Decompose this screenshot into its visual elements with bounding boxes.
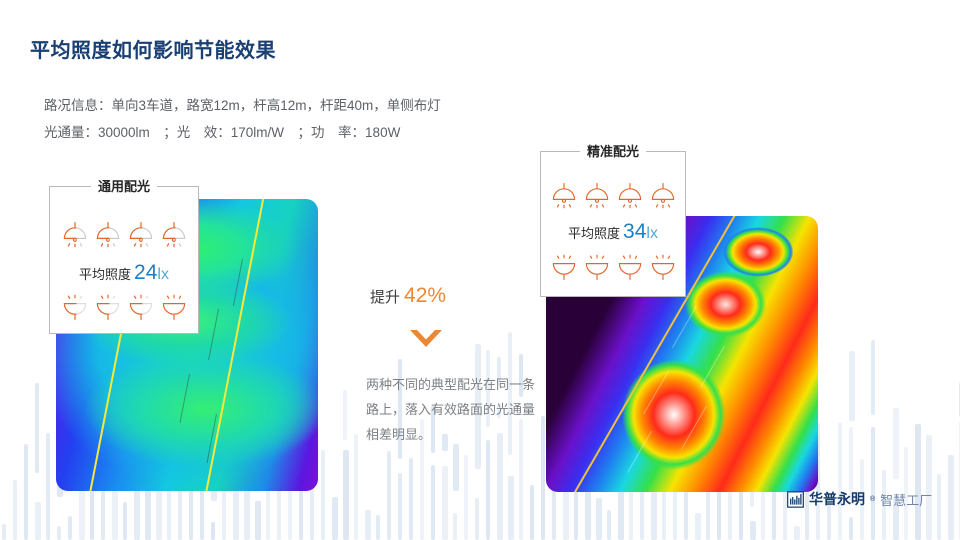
average-illuminance-unit-left: lx: [157, 266, 169, 283]
background-bar: [838, 422, 842, 540]
lamp-row-bottom-left-card: [50, 293, 198, 323]
background-bar: [35, 383, 39, 473]
page-title: 平均照度如何影响节能效果: [30, 34, 276, 63]
pendant-lamp-icon: [615, 180, 645, 210]
background-bar: [453, 513, 457, 540]
background-bar: [497, 433, 503, 540]
background-bar: [948, 455, 954, 540]
brand-name: 华普永明: [809, 489, 865, 509]
background-bar: [112, 490, 118, 540]
card-legend-precise: 精准配光: [580, 141, 646, 160]
average-illuminance-label-left: 平均照度: [79, 267, 131, 282]
background-bar: [695, 513, 701, 540]
background-bar: [398, 473, 402, 540]
slide-canvas: 平均照度如何影响节能效果 路况信息：单向3车道，路宽12m，杆高12m，杆距40…: [0, 0, 960, 540]
background-bar: [596, 498, 602, 540]
pendant-lamp-inverted-icon: [648, 253, 678, 283]
average-illuminance-left: 平均照度24lx: [50, 261, 198, 285]
pendant-lamp-inverted-icon: [549, 253, 579, 283]
average-illuminance-value-left: 24: [134, 261, 157, 284]
background-bar: [486, 440, 490, 540]
background-bar: [387, 451, 391, 540]
background-bar: [607, 510, 611, 540]
pendant-lamp-inverted-icon: [582, 253, 612, 283]
background-bar: [24, 444, 28, 540]
average-illuminance-label-right: 平均照度: [568, 226, 620, 241]
pendant-lamp-inverted-icon: [159, 293, 189, 323]
background-bar: [343, 450, 349, 540]
improvement-callout: 提升42%: [370, 284, 446, 308]
background-bar: [541, 416, 545, 540]
background-bar: [376, 515, 380, 540]
background-bar: [431, 465, 435, 540]
background-bar: [255, 501, 261, 540]
background-bar: [354, 434, 358, 540]
pendant-lamp-inverted-icon: [615, 253, 645, 283]
background-bar: [35, 502, 41, 540]
pendant-lamp-inverted-icon: [126, 293, 156, 323]
pendant-lamp-icon: [93, 219, 123, 249]
background-bar: [816, 504, 820, 540]
background-bar: [871, 427, 875, 540]
background-bar: [57, 526, 61, 540]
background-bar: [508, 476, 514, 540]
lamp-row-top-right-card: [541, 180, 685, 210]
pendant-lamp-inverted-icon: [60, 293, 90, 323]
road-parameters-block: 路况信息：单向3车道，路宽12m，杆高12m，杆距40m，单侧布灯 光通量：30…: [44, 92, 441, 146]
background-bar: [343, 390, 347, 440]
background-bar: [530, 485, 534, 540]
background-bar: [849, 517, 853, 540]
background-bar: [321, 450, 325, 540]
background-bar: [464, 455, 468, 540]
brand-logo: 华普永明® 智慧工厂: [787, 489, 932, 509]
improvement-value: 42%: [404, 284, 446, 307]
background-bar: [13, 480, 17, 540]
background-bar: [2, 524, 6, 540]
background-bar: [123, 502, 127, 540]
background-bar: [46, 433, 50, 540]
background-bar: [893, 408, 899, 479]
factory-building-icon: [787, 491, 804, 508]
pendant-lamp-icon: [582, 180, 612, 210]
pendant-lamp-icon: [648, 180, 678, 210]
pendant-lamp-icon: [549, 180, 579, 210]
brand-tagline: 智慧工厂: [880, 490, 932, 509]
lamp-row-bottom-right-card: [541, 253, 685, 283]
card-precise-distribution: 精准配光: [540, 151, 686, 297]
background-bar: [277, 485, 281, 540]
pendant-lamp-inverted-icon: [93, 293, 123, 323]
background-bar: [475, 498, 479, 540]
background-bar: [134, 486, 140, 540]
pendant-lamp-icon: [126, 219, 156, 249]
road-parameters-line-1: 路况信息：单向3车道，路宽12m，杆高12m，杆距40m，单侧布灯: [44, 92, 441, 119]
improvement-label: 提升: [370, 289, 400, 306]
background-bar: [453, 444, 459, 491]
background-bar: [728, 489, 732, 540]
background-bar: [409, 458, 413, 540]
chevron-down-icon: [408, 327, 444, 351]
background-bar: [211, 522, 215, 540]
background-bar: [365, 510, 371, 540]
background-bar: [871, 340, 875, 415]
comparison-note: 两种不同的典型配光在同一条路上，落入有效路面的光通量相差明显。: [366, 372, 541, 447]
background-bar: [937, 474, 941, 540]
background-bar: [794, 526, 800, 540]
average-illuminance-value-right: 34: [623, 220, 646, 243]
background-bar: [68, 516, 72, 540]
average-illuminance-right: 平均照度34lx: [541, 220, 685, 244]
card-legend-general: 通用配光: [91, 176, 157, 195]
background-bar: [849, 351, 855, 421]
card-general-distribution: 通用配光: [49, 186, 199, 334]
background-bar: [332, 497, 338, 540]
background-bar: [915, 424, 921, 540]
brand-registered-mark: ®: [870, 496, 875, 503]
background-bar: [442, 466, 448, 540]
average-illuminance-unit-right: lx: [646, 225, 658, 242]
road-parameters-line-2: 光通量：30000lm ；光 效：170lm/W ；功 率：180W: [44, 119, 441, 146]
background-bar: [750, 521, 756, 540]
pendant-lamp-icon: [159, 219, 189, 249]
background-bar: [926, 435, 932, 540]
background-bar: [244, 488, 250, 540]
lamp-row-top-left-card: [50, 219, 198, 249]
pendant-lamp-icon: [60, 219, 90, 249]
